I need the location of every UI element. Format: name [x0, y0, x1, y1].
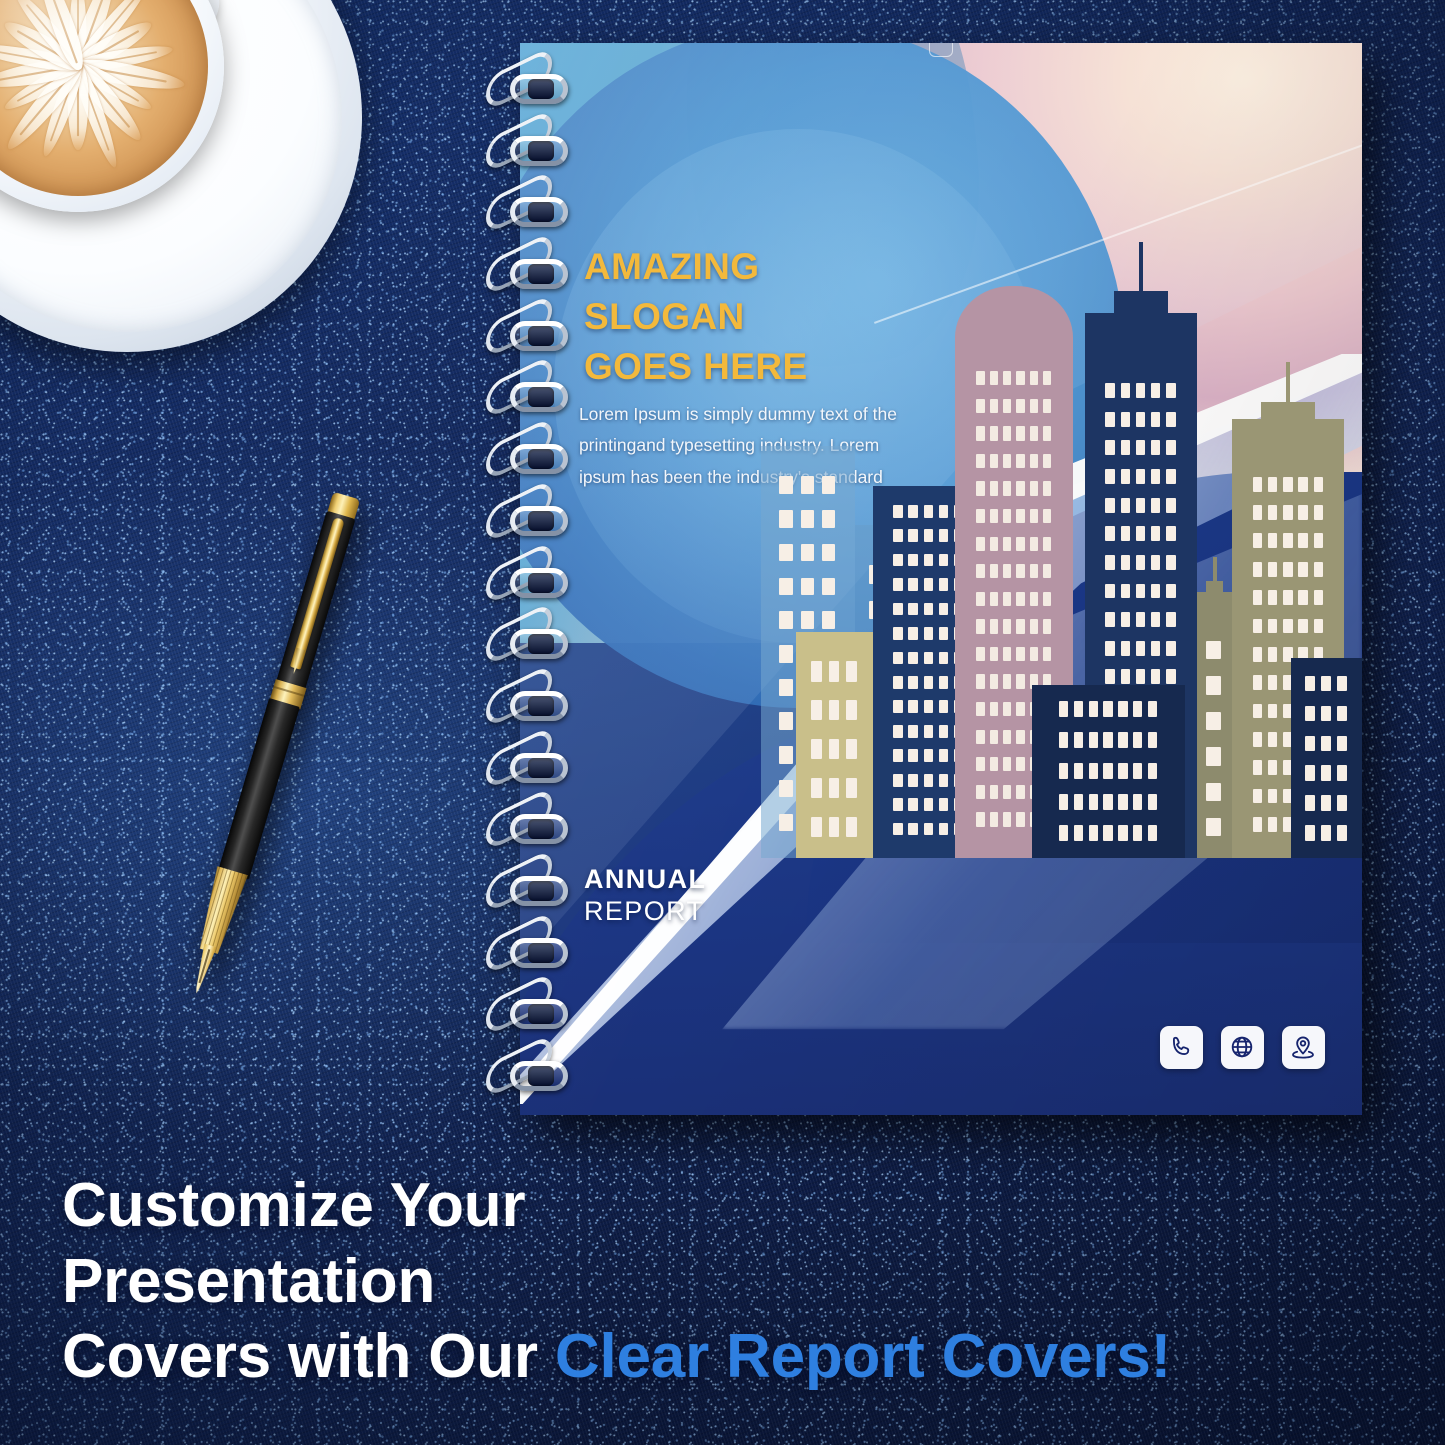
building-window [1103, 701, 1112, 717]
building-window [990, 674, 998, 688]
building-window [1253, 817, 1262, 832]
building-window [1268, 505, 1277, 520]
building-window [846, 661, 857, 681]
building-window [1166, 641, 1175, 656]
building-window [1136, 498, 1145, 513]
building-window [1268, 619, 1277, 634]
building-window [1074, 763, 1083, 779]
building-window [1268, 477, 1277, 492]
building-window [1133, 825, 1142, 841]
building-window [1151, 498, 1160, 513]
building-window [1253, 590, 1262, 605]
spiral-coil-loop [484, 1047, 584, 1105]
building-window [1166, 612, 1175, 627]
building-window [1136, 669, 1145, 684]
building-window [1016, 371, 1024, 385]
building-window [1337, 825, 1347, 841]
promo-headline: Customize Your Presentation Covers with … [62, 1168, 1405, 1395]
building-window [1105, 498, 1114, 513]
building-window [1253, 533, 1262, 548]
building-window [990, 399, 998, 413]
building-window [1283, 619, 1292, 634]
spiral-coil-loop [484, 739, 584, 797]
building-window [1003, 592, 1011, 606]
headline-line-3-white: Covers with Our [62, 1322, 555, 1391]
building-window [976, 399, 984, 413]
location-icon[interactable] [1282, 1026, 1325, 1069]
building-window [1151, 669, 1160, 684]
building-window [1206, 676, 1221, 694]
building-window [1121, 469, 1130, 484]
building-window [1003, 785, 1011, 799]
building-window [801, 476, 814, 494]
building-window [1206, 747, 1221, 765]
coil-wire-front [510, 876, 568, 906]
building-window [779, 645, 792, 663]
building-window [1016, 454, 1024, 468]
building-window [1151, 641, 1160, 656]
building-window [1337, 795, 1347, 811]
building-window [1003, 730, 1011, 744]
globe-icon[interactable] [1221, 1026, 1264, 1069]
building-window [829, 817, 840, 837]
coil-wire-front [510, 999, 568, 1029]
building-window [939, 554, 948, 567]
pen-nib [187, 943, 220, 997]
building-window [976, 537, 984, 551]
building-window [1268, 675, 1277, 690]
building-window [924, 749, 933, 762]
building-window [924, 627, 933, 640]
building-window [1136, 641, 1145, 656]
building-window [1003, 564, 1011, 578]
building-window [1030, 564, 1038, 578]
building-window [1321, 825, 1331, 841]
building-window [976, 592, 984, 606]
building-window [1206, 818, 1221, 836]
building-window [1283, 533, 1292, 548]
building-window [1283, 477, 1292, 492]
building-window [779, 510, 792, 528]
coil-wire-front [510, 1061, 568, 1091]
building-window [1003, 757, 1011, 771]
building-window [811, 700, 822, 720]
building-khaki-block [796, 632, 873, 858]
building-window [1305, 765, 1315, 781]
building-window [1148, 732, 1157, 748]
building-window [846, 700, 857, 720]
building-window [976, 785, 984, 799]
building-window [924, 529, 933, 542]
building-window [1074, 701, 1083, 717]
building-window [939, 505, 948, 518]
building-window [1253, 647, 1262, 662]
building-window [908, 700, 917, 713]
building-window [779, 814, 792, 832]
building-window [1337, 765, 1347, 781]
building-window [822, 544, 835, 562]
building-window [1151, 584, 1160, 599]
building-window [1118, 825, 1127, 841]
spiral-coil-loop [484, 924, 584, 982]
building-window [1043, 454, 1051, 468]
building-window [893, 823, 902, 836]
building-window [939, 627, 948, 640]
building-window [822, 611, 835, 629]
building-window [1121, 526, 1130, 541]
coil-wire-front [510, 629, 568, 659]
building-window [1305, 825, 1315, 841]
building-window [1268, 590, 1277, 605]
building-window [908, 749, 917, 762]
building-window [1074, 732, 1083, 748]
building-window [1305, 736, 1315, 752]
building-window [779, 611, 792, 629]
building-window [1059, 825, 1068, 841]
building-window [1103, 763, 1112, 779]
building-window [1166, 584, 1175, 599]
building-window [939, 652, 948, 665]
building-window [908, 823, 917, 836]
building-window [976, 481, 984, 495]
building-window [893, 529, 902, 542]
building-window [924, 676, 933, 689]
building-window [1030, 454, 1038, 468]
building-window [1003, 399, 1011, 413]
building-window [1089, 825, 1098, 841]
building-window [1016, 785, 1024, 799]
building-window [976, 509, 984, 523]
report-title-bold: ANNUAL [584, 864, 706, 896]
building-window [1151, 469, 1160, 484]
building-window [811, 739, 822, 759]
building-window [1136, 526, 1145, 541]
building-window [1118, 794, 1127, 810]
building-window [1003, 426, 1011, 440]
report-cover: AMAZING SLOGAN GOES HERE Lorem Ipsum is … [520, 43, 1362, 1115]
building-window [990, 619, 998, 633]
building-window [1268, 732, 1277, 747]
building-window [1059, 794, 1068, 810]
building-window [1337, 706, 1347, 722]
headline-line-1: Customize Your [62, 1168, 1405, 1244]
building-window [1016, 481, 1024, 495]
building-window [1314, 619, 1323, 634]
spiral-coil-loop [484, 862, 584, 920]
building-window [1253, 562, 1262, 577]
building-window [976, 702, 984, 716]
building-window [1059, 732, 1068, 748]
building-window [908, 578, 917, 591]
building-window [1118, 701, 1127, 717]
coil-wire-front [510, 691, 568, 721]
building-window [893, 603, 902, 616]
building-window [1074, 825, 1083, 841]
building-window [990, 757, 998, 771]
building-window [1321, 736, 1331, 752]
building-window [1089, 763, 1098, 779]
building-window [1166, 412, 1175, 427]
building-window [990, 481, 998, 495]
building-window [924, 578, 933, 591]
contact-icon-row [1160, 1026, 1325, 1069]
coil-wire-front [510, 321, 568, 351]
building-window [1105, 469, 1114, 484]
building-window [1298, 619, 1307, 634]
building-window [1298, 562, 1307, 577]
building-window [1283, 562, 1292, 577]
coil-wire-front [510, 938, 568, 968]
headline-accent: Clear Report Covers! [555, 1322, 1171, 1391]
building-window [990, 785, 998, 799]
building-spire [1213, 557, 1217, 597]
building-window [801, 611, 814, 629]
pen-grip-section [192, 866, 250, 957]
spiral-coil-loop [484, 985, 584, 1043]
building-window [939, 676, 948, 689]
building-window [939, 725, 948, 738]
building-window [1298, 533, 1307, 548]
building-window [908, 554, 917, 567]
building-window [939, 774, 948, 787]
building-window [990, 509, 998, 523]
building-window [1321, 706, 1331, 722]
building-window [924, 774, 933, 787]
cityscape-illustration [773, 193, 1362, 858]
building-window [990, 592, 998, 606]
building-window [1337, 736, 1347, 752]
building-window [1103, 794, 1112, 810]
building-window [1105, 555, 1114, 570]
building-window [1298, 477, 1307, 492]
building-window [1105, 440, 1114, 455]
building-window [1121, 669, 1130, 684]
building-window [908, 603, 917, 616]
building-window [822, 510, 835, 528]
building-window [1166, 526, 1175, 541]
cover-report-title: ANNUAL REPORT [584, 864, 706, 928]
spiral-coil-loop [484, 60, 584, 118]
building-right-navy-low [1291, 658, 1362, 857]
building-window [939, 529, 948, 542]
building-window [1030, 619, 1038, 633]
building-window [1283, 590, 1292, 605]
building-window [1003, 812, 1011, 826]
building-window [1043, 592, 1051, 606]
building-window [822, 476, 835, 494]
building-window [893, 774, 902, 787]
building-window [1003, 481, 1011, 495]
building-window [1043, 509, 1051, 523]
building-window [779, 476, 792, 494]
spiral-coil-loop [484, 307, 584, 365]
building-window [976, 454, 984, 468]
spiral-coil-loop [484, 430, 584, 488]
building-window [1314, 590, 1323, 605]
building-window [1003, 702, 1011, 716]
building-window [893, 676, 902, 689]
building-window [976, 564, 984, 578]
building-window [990, 537, 998, 551]
building-window [1016, 674, 1024, 688]
building-window [1166, 383, 1175, 398]
building-window [924, 823, 933, 836]
building-window [939, 578, 948, 591]
building-window [976, 426, 984, 440]
building-window [1148, 825, 1157, 841]
building-window [990, 647, 998, 661]
window-grid [1291, 658, 1362, 857]
building-window [1030, 592, 1038, 606]
building-window [779, 780, 792, 798]
building-window [908, 652, 917, 665]
building-window [893, 725, 902, 738]
building-window [1030, 371, 1038, 385]
building-window [1118, 763, 1127, 779]
building-window [1206, 712, 1221, 730]
coil-wire-front [510, 382, 568, 412]
building-window [1118, 732, 1127, 748]
building-window [1103, 732, 1112, 748]
headline-line-2: Presentation [62, 1244, 1405, 1320]
building-window [1151, 412, 1160, 427]
building-window [779, 578, 792, 596]
building-window [829, 778, 840, 798]
building-spire [1286, 362, 1290, 428]
building-window [1166, 440, 1175, 455]
building-window [1016, 812, 1024, 826]
spiral-coil-loop [484, 492, 584, 550]
building-window [1003, 371, 1011, 385]
building-window [1136, 383, 1145, 398]
building-window [990, 730, 998, 744]
building-window [1206, 783, 1221, 801]
spiral-coil-loop [484, 368, 584, 426]
coil-wire-front [510, 814, 568, 844]
building-window [1016, 509, 1024, 523]
building-window [1148, 763, 1157, 779]
building-window [1253, 477, 1262, 492]
building-window [1043, 537, 1051, 551]
building-window [1016, 619, 1024, 633]
building-window [1337, 676, 1347, 692]
building-window [939, 798, 948, 811]
building-window [893, 749, 902, 762]
building-window [846, 778, 857, 798]
spiral-coil-loop [484, 615, 584, 673]
building-window [1151, 555, 1160, 570]
building-window [924, 652, 933, 665]
building-window [1136, 440, 1145, 455]
building-window [1298, 590, 1307, 605]
building-window [1043, 481, 1051, 495]
coil-wire-front [510, 444, 568, 474]
window-grid [1197, 592, 1232, 858]
building-window [1305, 795, 1315, 811]
building-window [1133, 763, 1142, 779]
phone-icon[interactable] [1160, 1026, 1203, 1069]
building-window [1321, 795, 1331, 811]
building-window [1121, 555, 1130, 570]
coffee-surface [0, 0, 208, 196]
building-window [893, 652, 902, 665]
coil-wire-front [510, 197, 568, 227]
building-window [779, 712, 792, 730]
building-window [1003, 537, 1011, 551]
building-window [1030, 426, 1038, 440]
foam-sheen [0, 0, 208, 196]
building-window [1136, 412, 1145, 427]
building-window [1253, 505, 1262, 520]
building-window [1314, 505, 1323, 520]
building-window [1314, 477, 1323, 492]
building-window [1121, 612, 1130, 627]
building-window [939, 823, 948, 836]
building-window [801, 544, 814, 562]
building-window [1089, 794, 1098, 810]
building-window [1321, 676, 1331, 692]
cover-top-notch [929, 43, 953, 57]
slogan-line-3: GOES HERE [584, 342, 808, 392]
building-window [1151, 383, 1160, 398]
building-window [924, 700, 933, 713]
building-window [1003, 647, 1011, 661]
building-window [976, 647, 984, 661]
building-window [1105, 641, 1114, 656]
coil-wire-front [510, 136, 568, 166]
spiral-notebook[interactable]: AMAZING SLOGAN GOES HERE Lorem Ipsum is … [520, 43, 1362, 1115]
building-window [1016, 702, 1024, 716]
building-window [893, 554, 902, 567]
building-window [1136, 555, 1145, 570]
building-window [1321, 765, 1331, 781]
spiral-coil-loop [484, 677, 584, 735]
spiral-coil-loop [484, 554, 584, 612]
building-window [1166, 555, 1175, 570]
building-window [1121, 440, 1130, 455]
building-window [1151, 526, 1160, 541]
slogan-line-2: SLOGAN [584, 292, 808, 342]
report-title-light: REPORT [584, 896, 706, 928]
building-window [1268, 817, 1277, 832]
spiral-coil-loop [484, 183, 584, 241]
building-window [1105, 669, 1114, 684]
coffee-cup [0, 0, 362, 352]
building-window [990, 702, 998, 716]
building-front-navy-row [1032, 685, 1185, 858]
building-window [779, 544, 792, 562]
building-window [893, 505, 902, 518]
building-window [1089, 732, 1098, 748]
building-window [924, 798, 933, 811]
building-window [1103, 825, 1112, 841]
building-window [1268, 647, 1277, 662]
spiral-coil-loop [484, 800, 584, 858]
building-small-spire [1197, 592, 1232, 858]
building-window [1105, 383, 1114, 398]
building-window [939, 700, 948, 713]
building-window [1016, 399, 1024, 413]
building-window [1030, 399, 1038, 413]
building-window [908, 627, 917, 640]
building-window [1133, 732, 1142, 748]
building-window [1003, 509, 1011, 523]
building-window [976, 730, 984, 744]
building-window [1043, 647, 1051, 661]
building-window [829, 661, 840, 681]
building-window [990, 371, 998, 385]
building-window [1016, 730, 1024, 744]
